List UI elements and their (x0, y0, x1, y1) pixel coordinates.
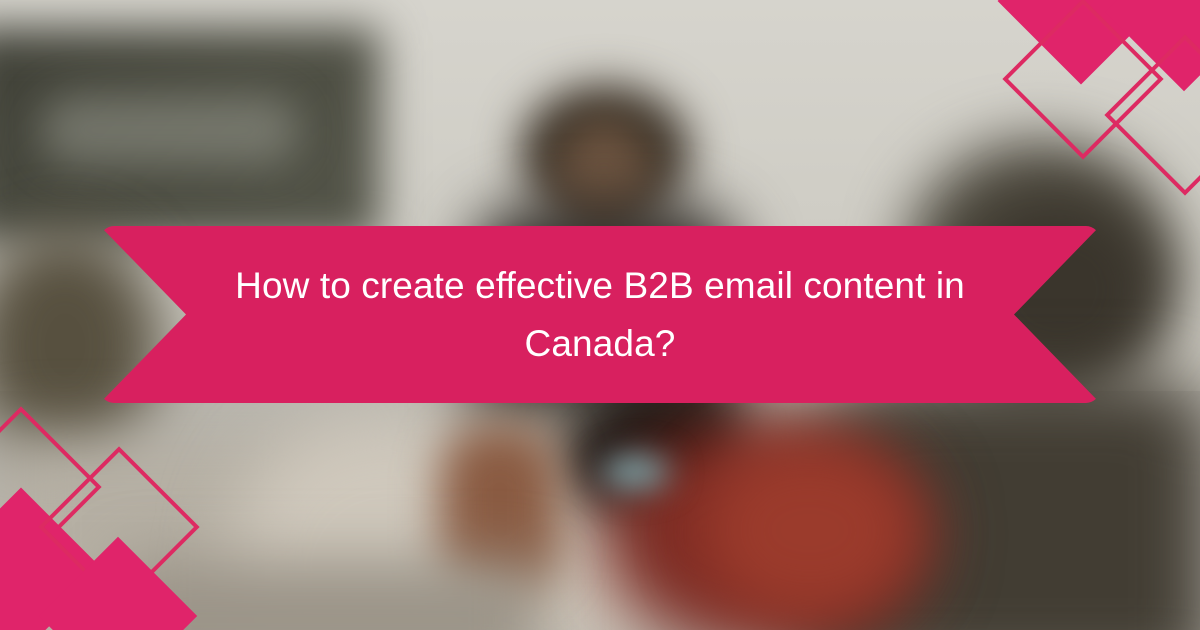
foreground-warm-shape-2 (700, 440, 920, 620)
page-title: How to create effective B2B email conten… (220, 257, 980, 373)
foreground-bottom-shadow (120, 560, 540, 630)
headline-ribbon: How to create effective B2B email conten… (100, 226, 1100, 403)
chalkboard-writing-shape (40, 95, 300, 165)
foreground-teal-object (600, 455, 670, 489)
social-share-card: How to create effective B2B email conten… (0, 0, 1200, 630)
